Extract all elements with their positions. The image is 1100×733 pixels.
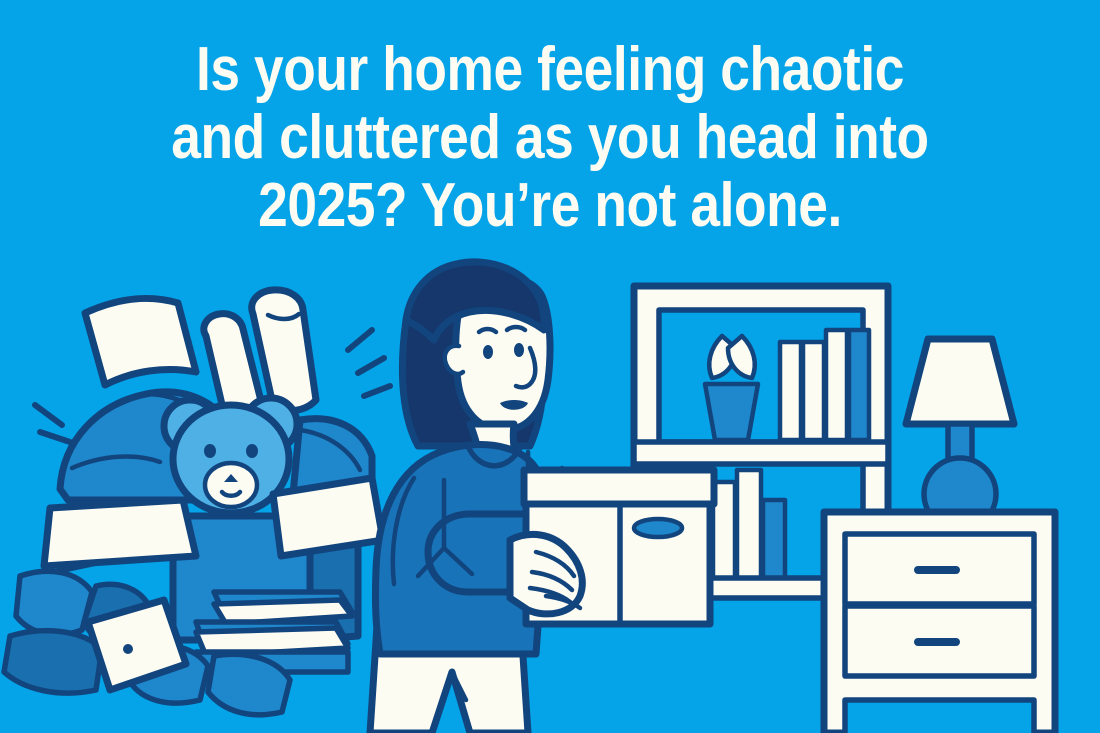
clothes-c [4, 631, 102, 693]
shelf-plant [705, 336, 758, 440]
box-handle [634, 519, 682, 537]
poster-canvas: .ol { stroke: #12457e; stroke-width: 7; … [0, 0, 1100, 733]
dresser [824, 512, 1055, 733]
drawer-handle-top [914, 566, 960, 574]
drawer-handle-middle [914, 638, 960, 646]
illustration-svg: .ol { stroke: #12457e; stroke-width: 7; … [0, 0, 1100, 733]
flying-paper [85, 298, 196, 385]
shelf-books-top [780, 330, 869, 440]
woman-eye-right [514, 343, 524, 357]
woman-eye-left [483, 345, 493, 359]
clothes-a [16, 571, 92, 635]
